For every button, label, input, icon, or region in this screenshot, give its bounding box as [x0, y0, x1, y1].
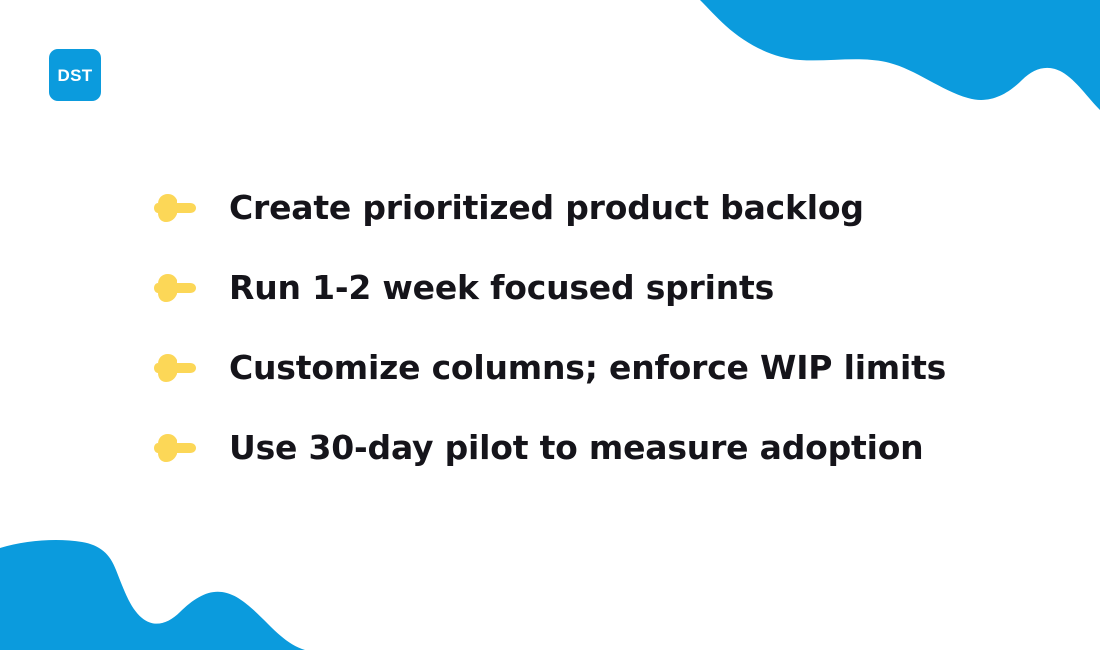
- pointing-right-hand-icon: [150, 270, 229, 306]
- list-item-label: Use 30-day pilot to measure adoption: [229, 430, 923, 466]
- slide-canvas: DST Create prioritized product backlog R…: [0, 0, 1100, 650]
- list-item: Customize columns; enforce WIP limits: [150, 328, 1050, 408]
- list-item-label: Create prioritized product backlog: [229, 190, 864, 226]
- pointing-right-hand-icon: [150, 190, 229, 226]
- logo-badge: DST: [49, 49, 101, 101]
- list-item: Create prioritized product backlog: [150, 168, 1050, 248]
- list-item: Use 30-day pilot to measure adoption: [150, 408, 1050, 488]
- pointing-right-hand-icon: [150, 430, 229, 466]
- blue-wave-top-right: [700, 0, 1100, 130]
- list-item-label: Customize columns; enforce WIP limits: [229, 350, 946, 386]
- bullet-list: Create prioritized product backlog Run 1…: [150, 168, 1050, 488]
- list-item: Run 1-2 week focused sprints: [150, 248, 1050, 328]
- blue-wave-bottom-left: [0, 520, 320, 650]
- logo-text: DST: [58, 67, 93, 84]
- pointing-right-hand-icon: [150, 350, 229, 386]
- list-item-label: Run 1-2 week focused sprints: [229, 270, 774, 306]
